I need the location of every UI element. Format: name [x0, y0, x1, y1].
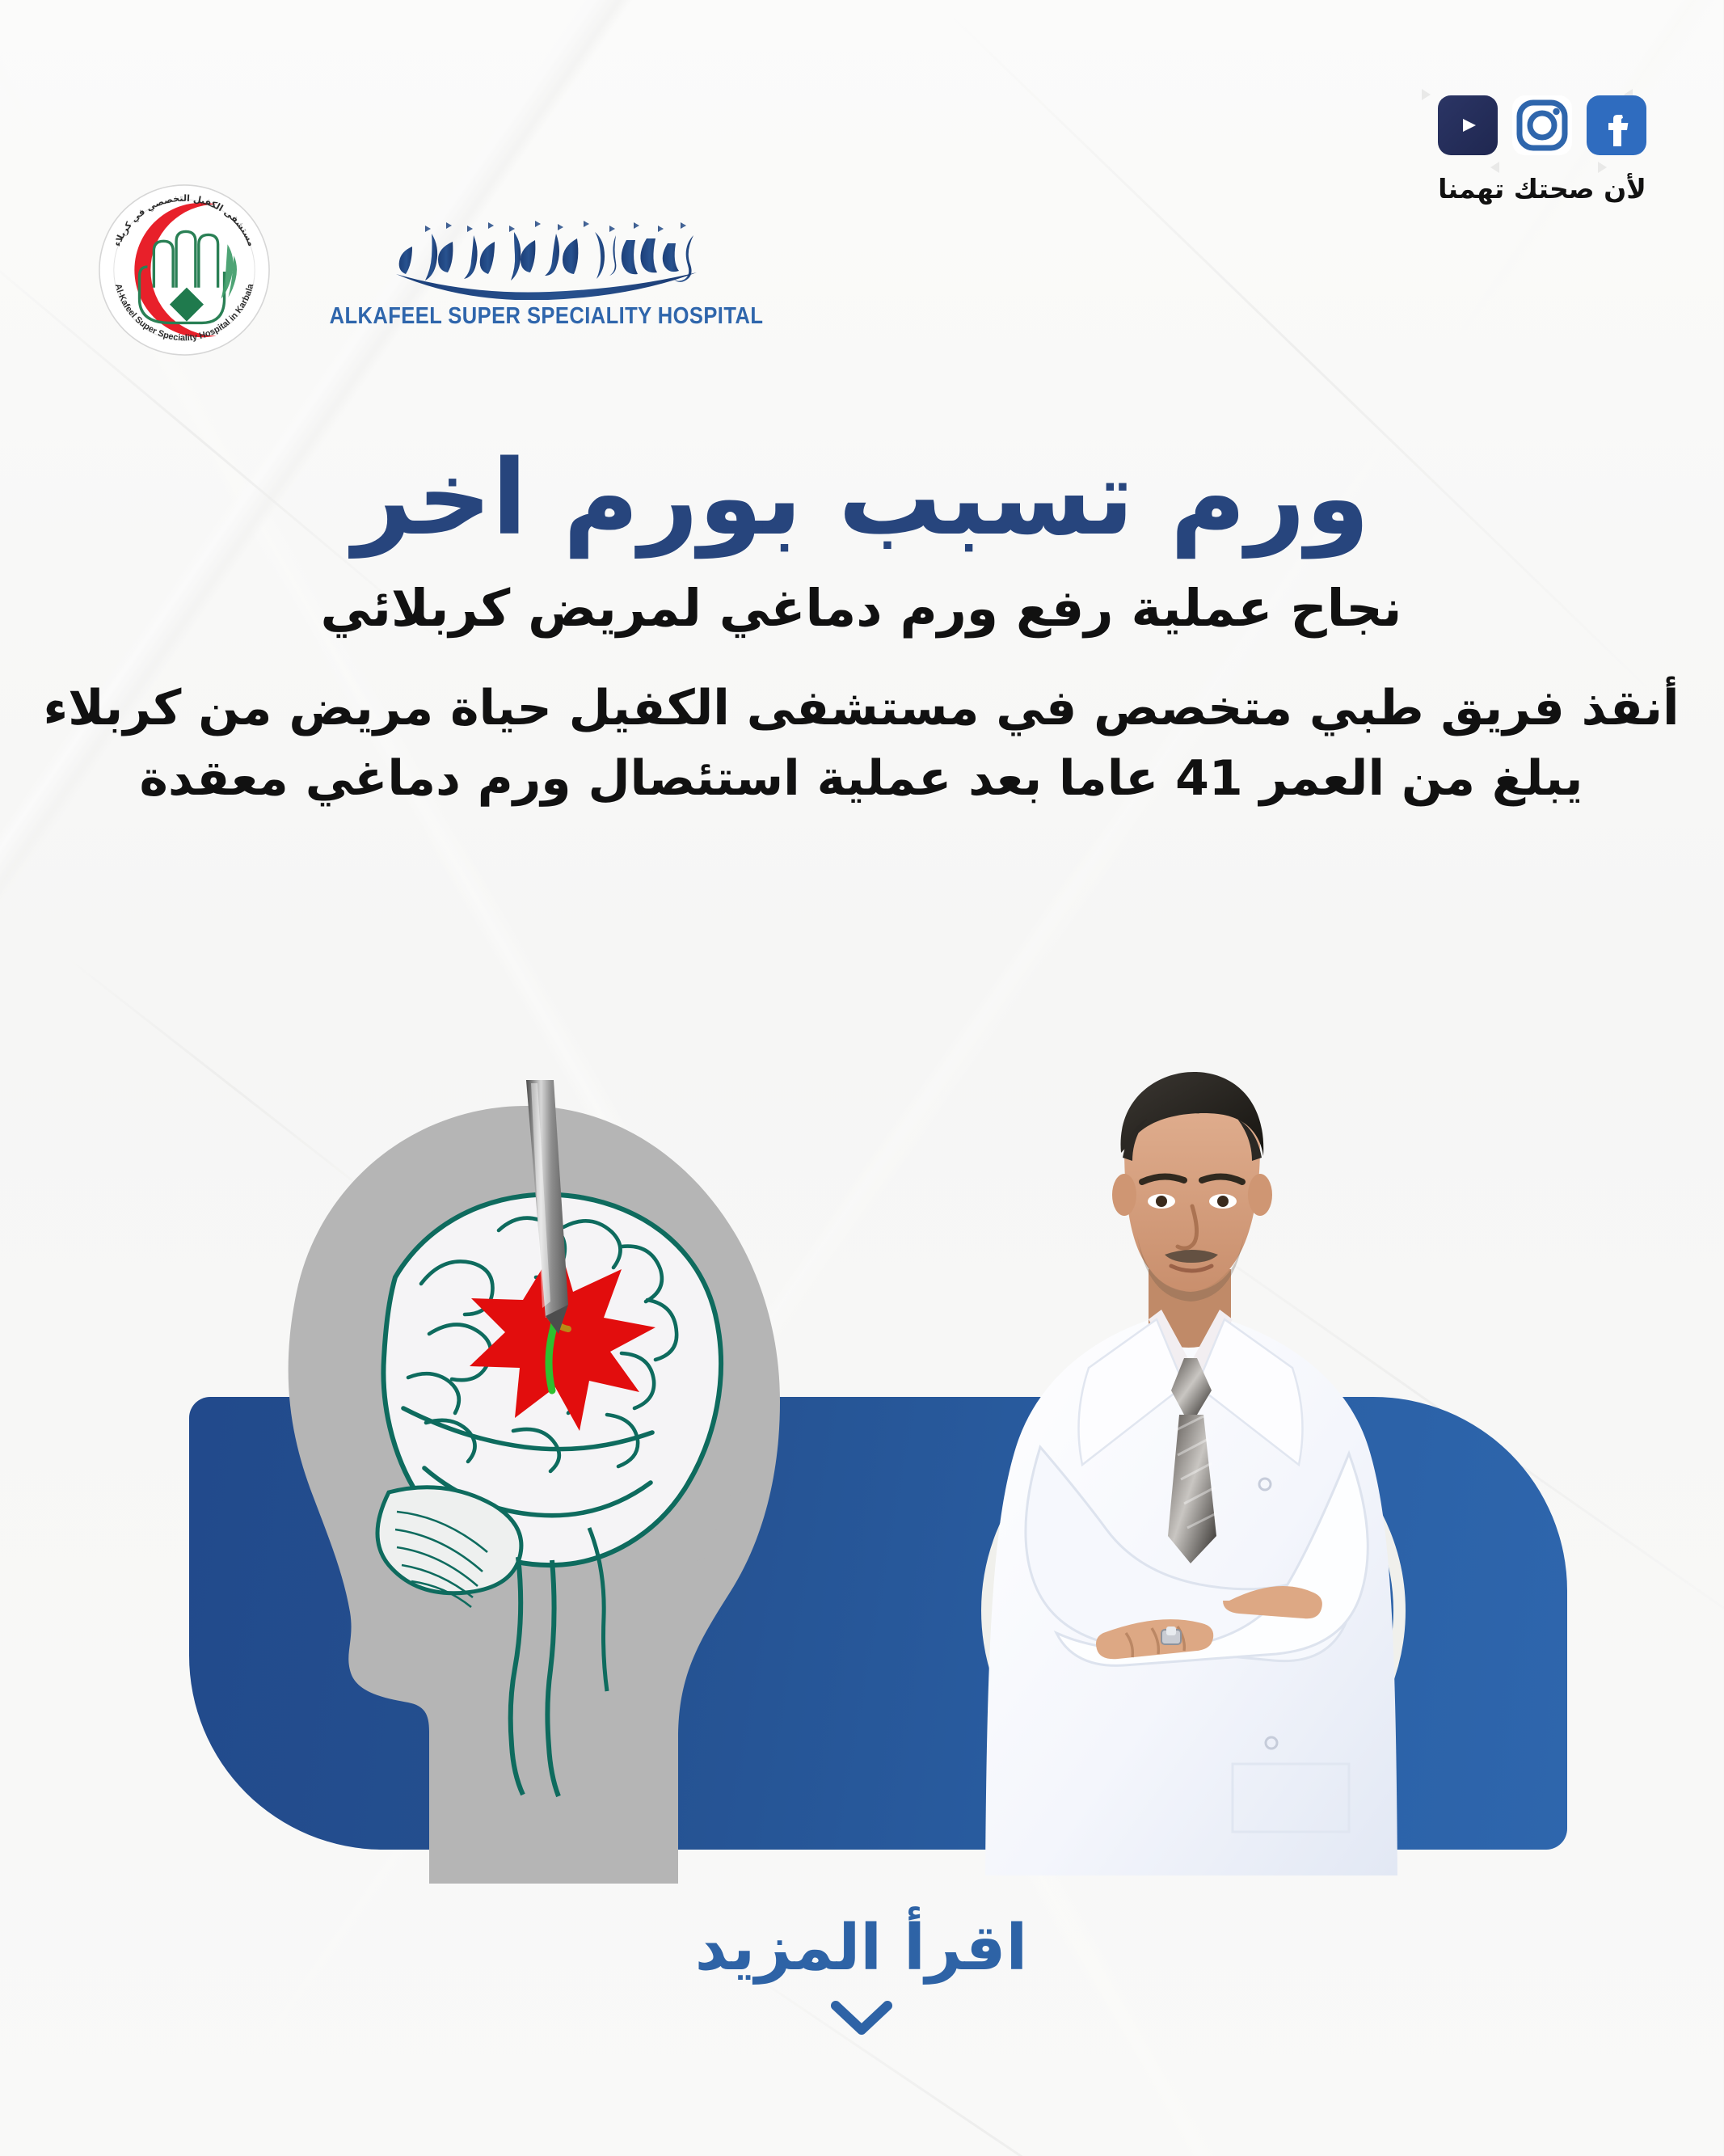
announcement-copy: ورم تسبب بورم اخر نجاح عملية رفع ورم دما… — [0, 441, 1724, 814]
page-subtitle: نجاح عملية رفع ورم دماغي لمريض كربلائي — [0, 577, 1724, 641]
read-more-label[interactable]: اقرأ المزيد — [696, 1912, 1028, 1985]
wordmark-arabic-calligraphy — [377, 211, 717, 300]
page-title: ورم تسبب بورم اخر — [0, 441, 1724, 556]
body-line-1: أنقذ فريق طبي متخصص في مستشفى الكفيل حيا… — [0, 673, 1724, 744]
header: مستشفى الكفيل التخصصي في كربلاء Al-Kafee… — [0, 0, 1724, 348]
artwork-stage — [0, 1075, 1724, 1884]
doctor-portrait — [946, 1067, 1447, 1875]
hospital-logo: مستشفى الكفيل التخصصي في كربلاء Al-Kafee… — [97, 182, 794, 358]
chevron-down-icon[interactable] — [830, 1999, 895, 2036]
body-line-2: يبلغ من العمر 41 عاما بعد عملية استئصال … — [0, 744, 1724, 814]
youtube-icon[interactable] — [1439, 95, 1498, 155]
hospital-wordmark: ALKAFEEL SUPER SPECIALITY HOSPITAL — [301, 211, 794, 330]
instagram-icon[interactable] — [1513, 95, 1573, 155]
facebook-icon[interactable] — [1587, 95, 1647, 155]
hospital-badge-emblem: مستشفى الكفيل التخصصي في كربلاء Al-Kafee… — [97, 182, 273, 358]
read-more-cta[interactable]: اقرأ المزيد — [0, 1912, 1724, 2036]
brain-tumor-illustration — [242, 1075, 857, 1884]
social-icon-row — [1439, 95, 1647, 155]
social-tagline: لأن صحتك تهمنا — [1439, 173, 1647, 205]
social-links: لأن صحتك تهمنا — [1439, 95, 1647, 205]
wordmark-english-label: ALKAFEEL SUPER SPECIALITY HOSPITAL — [331, 303, 765, 330]
